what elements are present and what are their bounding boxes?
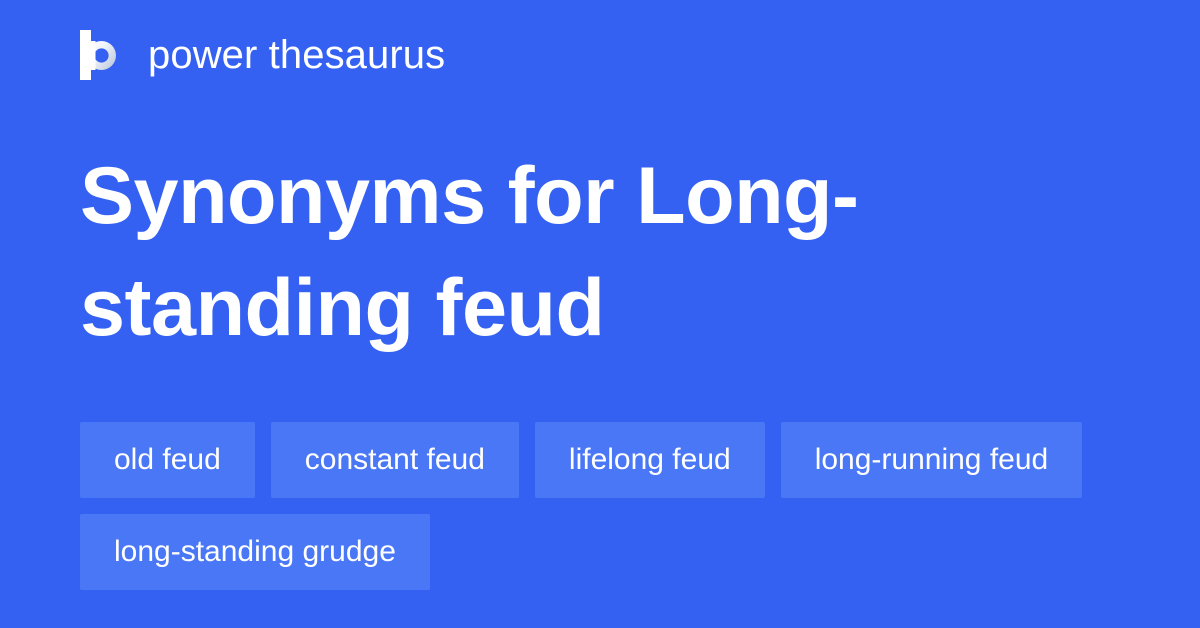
power-thesaurus-logo-icon <box>80 30 126 80</box>
synonym-chip[interactable]: long-standing grudge <box>80 514 430 590</box>
synonym-chip[interactable]: old feud <box>80 422 255 498</box>
synonym-chip[interactable]: lifelong feud <box>535 422 765 498</box>
synonym-chip[interactable]: constant feud <box>271 422 519 498</box>
page-title: Synonyms for Long-standing feud <box>80 140 900 364</box>
brand-name: power thesaurus <box>148 35 445 75</box>
synonym-chip[interactable]: long-running feud <box>781 422 1083 498</box>
og-card: power thesaurus Synonyms for Long-standi… <box>0 0 1200 628</box>
synonym-chip-list: old feud constant feud lifelong feud lon… <box>80 422 1090 590</box>
brand-header[interactable]: power thesaurus <box>80 30 445 80</box>
